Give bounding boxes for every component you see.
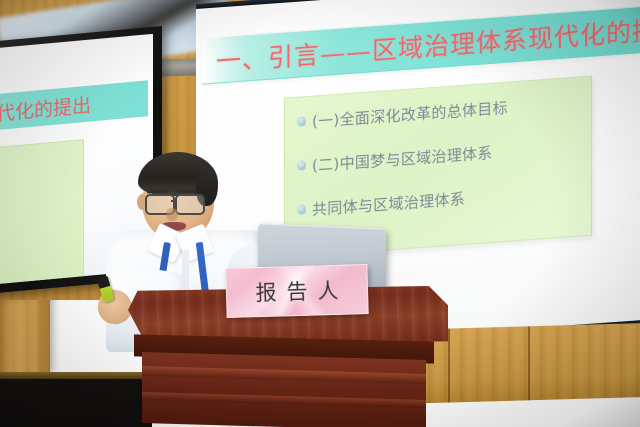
monitor-slide-title-bar: 体系现代化的提出 <box>0 80 148 136</box>
slide-bullet-text: 共同体与区域治理体系 <box>312 188 465 220</box>
slide-bullet-item: (二)中国梦与区域治理体系 <box>297 135 581 176</box>
monitor-slide-title-text: 体系现代化的提出 <box>0 90 91 131</box>
presentation-photo-scene: 一、引言——区域治理体系现代化的提出 (一)全面深化改革的总体目标 (二)中国梦… <box>0 0 640 427</box>
slide-title-bar: 一、引言——区域治理体系现代化的提出 <box>202 6 640 85</box>
podium-body <box>142 352 426 427</box>
speaker-name-sign-text: 报告人 <box>245 275 349 308</box>
bullet-dot-icon <box>297 160 306 171</box>
slide-bullet-item: (一)全面深化改革的总体目标 <box>297 91 581 132</box>
speaker-nose <box>166 208 178 221</box>
wainscot-seam <box>448 328 450 402</box>
slide-bullet-text: (一)全面深化改革的总体目标 <box>312 97 508 132</box>
slide-bullet-text: (二)中国梦与区域治理体系 <box>312 142 493 176</box>
monitor-bullet-text: 目标 <box>0 150 83 181</box>
wainscot-seam <box>528 326 530 400</box>
slide-title-text: 一、引言——区域治理体系现代化的提出 <box>216 9 640 79</box>
monitor-bullet-text: 系 <box>0 192 83 223</box>
monitor-bullet-text: 域治理体系 <box>0 234 83 265</box>
slide-bullet-item: 共同体与区域治理体系 <box>297 179 581 220</box>
eyeglasses-lens-right <box>175 194 205 215</box>
bullet-dot-icon <box>297 204 306 215</box>
monitor-slide-content-box: 目标 系 域治理体系 <box>0 139 84 284</box>
speaker-name-sign: 报告人 <box>225 264 368 318</box>
bullet-dot-icon <box>297 116 306 127</box>
eyeglasses-bridge <box>171 200 177 202</box>
